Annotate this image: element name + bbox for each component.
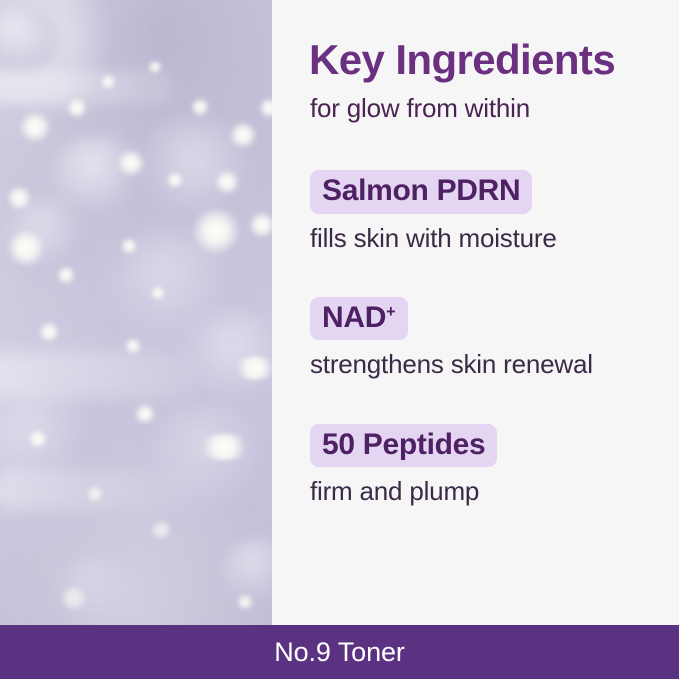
ingredient-list: Salmon PDRN fills skin with moisture NAD… [310, 170, 670, 507]
droplet-blob [0, 392, 94, 498]
highlight-sparkle [150, 520, 172, 540]
highlight-sparkle [196, 434, 252, 460]
key-ingredients-poster: Key Ingredients for glow from within Sal… [0, 0, 679, 679]
gel-strand [0, 352, 200, 398]
droplet-blob [222, 538, 272, 608]
droplet-blob [104, 232, 236, 352]
highlight-sparkle [190, 208, 242, 254]
highlight-sparkle [134, 404, 156, 424]
highlight-sparkle [258, 98, 272, 118]
highlight-sparkle [124, 338, 142, 354]
highlight-sparkle [86, 486, 104, 502]
highlight-sparkle [150, 286, 166, 300]
list-item: Salmon PDRN fills skin with moisture [310, 170, 670, 254]
droplet-blob [6, 196, 94, 278]
highlight-sparkle [232, 356, 272, 380]
highlight-sparkle [28, 430, 48, 448]
droplet-blob [52, 136, 148, 224]
highlight-sparkle [236, 594, 254, 610]
ingredient-benefit: firm and plump [310, 476, 670, 507]
droplet-blob [132, 118, 252, 226]
ingredient-name: 50 Peptides [322, 428, 485, 461]
droplet-blob [0, 4, 60, 76]
droplet-blob [146, 404, 272, 522]
ingredient-benefit: fills skin with moisture [310, 223, 670, 254]
page-subtitle: for glow from within [310, 93, 530, 124]
highlight-sparkle [190, 98, 210, 116]
highlight-sparkle [214, 170, 240, 194]
list-item: 50 Peptides firm and plump [310, 424, 670, 508]
highlight-sparkle [116, 150, 146, 176]
highlight-sparkle [38, 322, 60, 342]
highlight-sparkle [60, 586, 88, 610]
ingredient-name-chip: NAD+ [310, 297, 408, 341]
ingredient-name-chip: Salmon PDRN [310, 170, 532, 214]
highlight-sparkle [228, 122, 258, 148]
list-item: NAD+ strengthens skin renewal [310, 297, 670, 381]
highlight-sparkle [148, 60, 162, 74]
highlight-sparkle [6, 186, 32, 210]
gel-strand [0, 70, 174, 104]
highlight-sparkle [166, 172, 184, 188]
highlight-sparkle [18, 112, 52, 142]
gel-strand [0, 470, 190, 510]
ingredient-benefit: strengthens skin renewal [310, 349, 670, 380]
highlight-sparkle [6, 230, 46, 266]
highlight-sparkle [66, 98, 88, 118]
droplet-blob [54, 556, 144, 625]
ingredient-name-chip: 50 Peptides [310, 424, 497, 468]
highlight-sparkle [100, 74, 116, 90]
product-name-label: No.9 Toner [274, 639, 405, 666]
page-title: Key Ingredients [309, 38, 615, 83]
highlight-sparkle [120, 238, 138, 254]
ingredient-superscript: + [386, 303, 395, 321]
text-panel: Key Ingredients for glow from within Sal… [272, 0, 679, 625]
ingredient-name: NAD [322, 301, 386, 334]
photo-vignette [0, 0, 272, 625]
ingredient-name: Salmon PDRN [322, 174, 520, 207]
product-footer-bar: No.9 Toner [0, 625, 679, 679]
highlight-sparkle [248, 212, 272, 238]
highlight-sparkle [56, 266, 76, 284]
droplet-blob [178, 310, 272, 414]
gel-texture-photo [0, 0, 272, 625]
